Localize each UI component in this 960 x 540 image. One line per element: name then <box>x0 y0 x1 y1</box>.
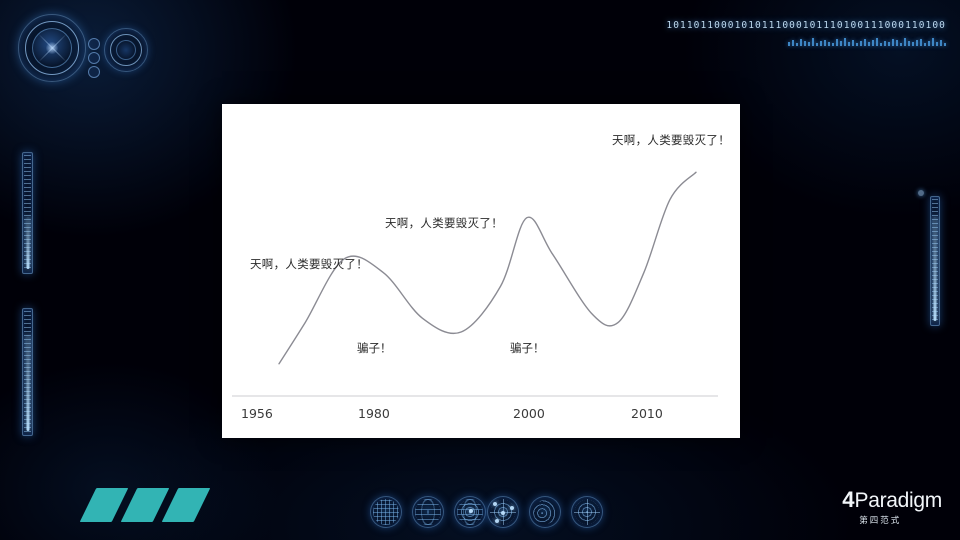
annotation-trough-2: 骗子！ <box>510 340 545 356</box>
crosshair-rings-icon <box>571 496 603 528</box>
ticker-bar <box>872 40 874 46</box>
ticker-bar <box>804 41 806 46</box>
ticker-bar <box>876 38 878 46</box>
gauge-right[interactable] <box>930 196 940 326</box>
ticker-bar <box>840 41 842 46</box>
ticker-bar <box>916 40 918 46</box>
annotation-trough-1: 骗子！ <box>357 340 392 356</box>
ticker-bar <box>924 43 926 46</box>
brand-logo: 4 Paradigm 第四范式 <box>842 489 942 526</box>
ticker-bar <box>904 38 906 46</box>
ticker-bar <box>828 42 830 46</box>
ticker-bar <box>912 42 914 46</box>
ticker-bar <box>944 43 946 46</box>
gauge-left-upper[interactable] <box>22 152 33 274</box>
ticker-bar <box>792 40 794 46</box>
ticker-bar <box>864 39 866 46</box>
x-tick-label: 1956 <box>241 406 273 421</box>
chevron-icon <box>121 488 170 522</box>
globe-radar-icon <box>454 496 486 528</box>
ticker-bar <box>820 41 822 46</box>
ticker-bar <box>788 42 790 46</box>
ticker-bar <box>920 39 922 46</box>
ticker-bar <box>908 41 910 46</box>
slide-canvas: 1011011000101011100010111010011100011010… <box>0 0 960 540</box>
ticker-bar <box>800 39 802 46</box>
ring-core-icon <box>46 42 58 54</box>
logo-wordmark: Paradigm <box>855 490 942 511</box>
ticker-bar <box>848 42 850 46</box>
logo-chinese-name: 第四范式 <box>859 514 942 526</box>
ticker-bar <box>808 42 810 46</box>
ticker-bar <box>884 41 886 46</box>
gauge-fill <box>934 217 937 321</box>
ticker-bar <box>796 43 798 46</box>
globe-wireframe-icon <box>412 496 444 528</box>
chevron-icon <box>80 488 129 522</box>
binary-ticker: 1011011000101011100010111010011100011010… <box>666 20 946 46</box>
hud-radar-cluster <box>487 496 603 528</box>
chart-plot-area: 天啊，人类要毁灭了！ 骗子！ 天啊，人类要毁灭了！ 骗子！ 天啊，人类要毁灭了！… <box>222 104 740 438</box>
x-axis-tick-labels: 1956198020002010 <box>222 406 740 432</box>
ticker-bar <box>844 38 846 46</box>
logo-numeral: 4 <box>842 489 853 511</box>
secondary-inner-ring-icon <box>116 40 136 60</box>
x-tick-label: 2000 <box>513 406 545 421</box>
ticker-bar <box>860 41 862 46</box>
gauge-fill <box>26 335 29 431</box>
ticker-bar <box>816 43 818 46</box>
annotation-peak-2: 天啊，人类要毁灭了！ <box>385 215 503 231</box>
ticker-bar <box>856 43 858 46</box>
binary-ticker-bars <box>666 36 946 46</box>
dot-stack-icon <box>86 38 100 80</box>
ticker-bar <box>896 40 898 46</box>
ticker-bar <box>868 42 870 46</box>
ticker-bar <box>888 42 890 46</box>
status-dot-icon <box>918 190 924 196</box>
chart-card: 天啊，人类要毁灭了！ 骗子！ 天啊，人类要毁灭了！ 骗子！ 天啊，人类要毁灭了！… <box>222 104 740 438</box>
ticker-bar <box>932 38 934 46</box>
ticker-bar <box>812 38 814 46</box>
hud-globe-cluster <box>370 496 486 528</box>
radar-sweep-icon <box>487 496 519 528</box>
hud-ring-cluster <box>8 8 168 88</box>
ticker-bar <box>900 43 902 46</box>
ticker-bar <box>852 40 854 46</box>
ticker-bar <box>824 40 826 46</box>
x-tick-label: 2010 <box>631 406 663 421</box>
ticker-bar <box>832 43 834 46</box>
ticker-bar <box>892 39 894 46</box>
ticker-bar <box>928 41 930 46</box>
annotation-peak-1: 天啊，人类要毁灭了！ <box>250 256 368 272</box>
gauge-fill <box>26 217 29 269</box>
ticker-bar <box>940 40 942 46</box>
x-tick-label: 1980 <box>358 406 390 421</box>
ticker-bar <box>836 39 838 46</box>
binary-ticker-text: 1011011000101011100010111010011100011010… <box>666 20 946 31</box>
gauge-left-lower[interactable] <box>22 308 33 436</box>
ticker-bar <box>936 42 938 46</box>
chevron-accent-group <box>88 488 202 522</box>
ticker-bar <box>880 43 882 46</box>
chevron-icon <box>162 488 211 522</box>
globe-grid-icon <box>370 496 402 528</box>
annotation-peak-3: 天啊，人类要毁灭了！ <box>612 132 730 148</box>
target-rings-icon <box>529 496 561 528</box>
